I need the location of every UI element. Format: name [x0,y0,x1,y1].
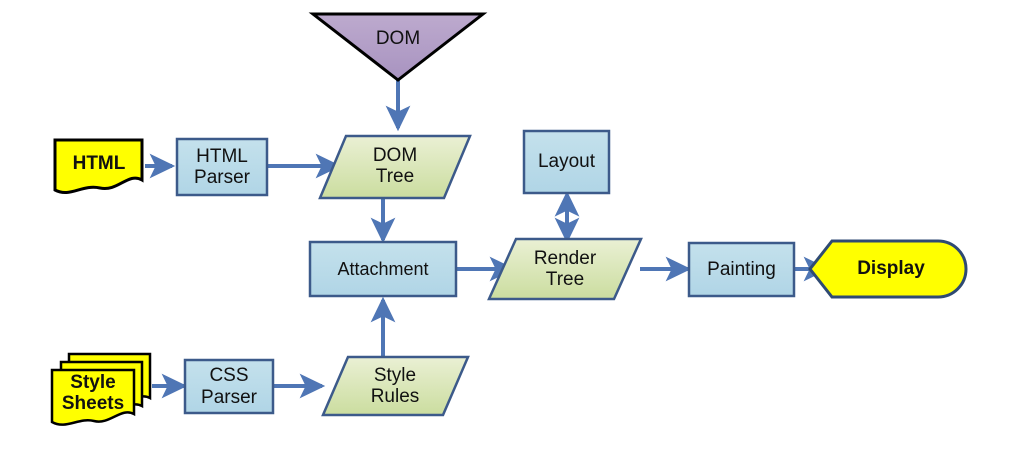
node-layout-shape[interactable] [524,131,609,193]
node-style-sheets-shape[interactable] [52,354,150,425]
node-render-tree-shape[interactable] [489,239,641,299]
node-painting-shape[interactable] [689,243,794,296]
node-attachment-shape[interactable] [310,242,456,296]
node-dom-shape[interactable] [313,14,483,80]
node-style-rules-shape[interactable] [323,357,468,415]
node-css-parser-shape[interactable] [185,360,273,413]
node-display-shape[interactable] [810,241,966,297]
node-dom-tree-shape[interactable] [320,136,470,198]
flowchart-canvas: DOM HTML HTML Parser DOM Tree Layout Att… [0,0,1020,476]
node-html-parser-shape[interactable] [177,139,267,195]
flowchart-shapes-layer [0,0,1020,476]
edges-group [145,78,826,386]
node-html-shape[interactable] [55,140,142,193]
style-sheets-page-front [52,370,134,425]
